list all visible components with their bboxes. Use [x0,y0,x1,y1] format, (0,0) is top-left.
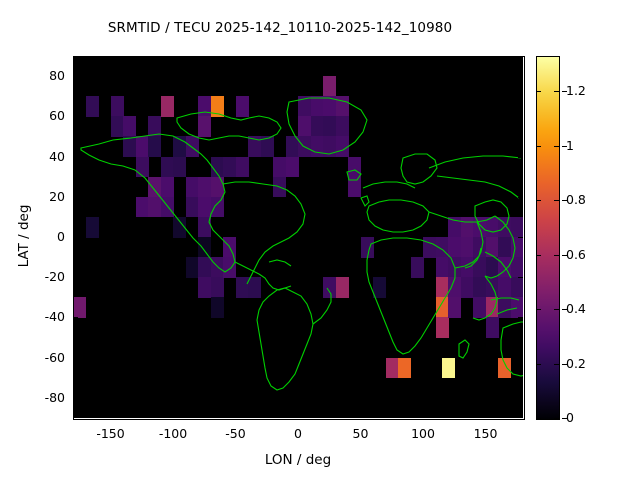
y-tick-mark [518,197,523,198]
y-tick-label: 40 [19,149,65,164]
y-tick-mark [73,398,78,399]
colorbar-tick-mark [536,364,541,365]
x-tick-mark [298,413,299,418]
colorbar-tick-label: 0.6 [566,247,626,262]
y-tick-mark [518,317,523,318]
x-axis-label: LON / deg [73,452,523,468]
x-tick-mark [298,56,299,61]
colorbar-tick-mark [536,146,541,147]
x-tick-label: -150 [81,426,141,441]
colorbar-tick-mark [554,200,559,201]
colorbar-tick-label: 0.2 [566,356,626,371]
colorbar-tick-mark [554,418,559,419]
y-tick-mark [518,277,523,278]
y-tick-mark [518,116,523,117]
y-tick-mark [518,76,523,77]
y-tick-mark [73,116,78,117]
y-tick-label: 60 [19,108,65,123]
x-tick-label: 150 [456,426,516,441]
colorbar-tick-label: 0.4 [566,301,626,316]
y-tick-label: 0 [19,229,65,244]
colorbar-tick-mark [554,146,559,147]
x-tick-mark [423,56,424,61]
x-tick-mark [173,413,174,418]
plot-figure: SRMTID / TECU 2025-142_10110-2025-142_10… [0,0,640,480]
colorbar-tick-mark [554,309,559,310]
y-tick-mark [73,157,78,158]
y-tick-label: 20 [19,189,65,204]
map-plot-area [73,56,523,418]
x-tick-mark [111,413,112,418]
colorbar-tick-label: 1.2 [566,83,626,98]
x-tick-mark [486,413,487,418]
y-tick-mark [518,237,523,238]
y-tick-mark [73,197,78,198]
y-tick-label: -20 [19,269,65,284]
y-tick-mark [518,157,523,158]
x-tick-mark [423,413,424,418]
x-tick-label: 0 [268,426,328,441]
x-tick-mark [111,56,112,61]
colorbar-tick-label: 0 [566,410,626,425]
x-tick-mark [236,56,237,61]
colorbar-tick-mark [554,91,559,92]
colorbar-tick-mark [536,309,541,310]
y-tick-mark [73,76,78,77]
x-tick-mark [236,413,237,418]
colorbar-tick-mark [536,418,541,419]
x-tick-mark [361,56,362,61]
x-tick-mark [173,56,174,61]
x-tick-label: 50 [331,426,391,441]
colorbar-tick-mark [536,255,541,256]
x-tick-label: 100 [393,426,453,441]
colorbar [536,56,560,420]
colorbar-tick-mark [536,91,541,92]
y-tick-label: -40 [19,309,65,324]
colorbar-tick-mark [554,364,559,365]
x-tick-label: -100 [143,426,203,441]
y-tick-mark [73,237,78,238]
colorbar-tick-label: 1 [566,138,626,153]
y-tick-label: -80 [19,390,65,405]
page-title: SRMTID / TECU 2025-142_10110-2025-142_10… [0,20,560,36]
x-tick-label: -50 [206,426,266,441]
y-tick-mark [73,358,78,359]
y-tick-mark [73,317,78,318]
y-tick-mark [518,358,523,359]
y-tick-label: 80 [19,68,65,83]
coastline-overlay [73,56,523,418]
colorbar-gradient [537,57,559,419]
x-tick-mark [361,413,362,418]
y-tick-mark [73,277,78,278]
y-tick-mark [518,398,523,399]
colorbar-tick-label: 0.8 [566,192,626,207]
x-tick-mark [486,56,487,61]
y-tick-label: -60 [19,350,65,365]
colorbar-tick-mark [554,255,559,256]
colorbar-tick-mark [536,200,541,201]
